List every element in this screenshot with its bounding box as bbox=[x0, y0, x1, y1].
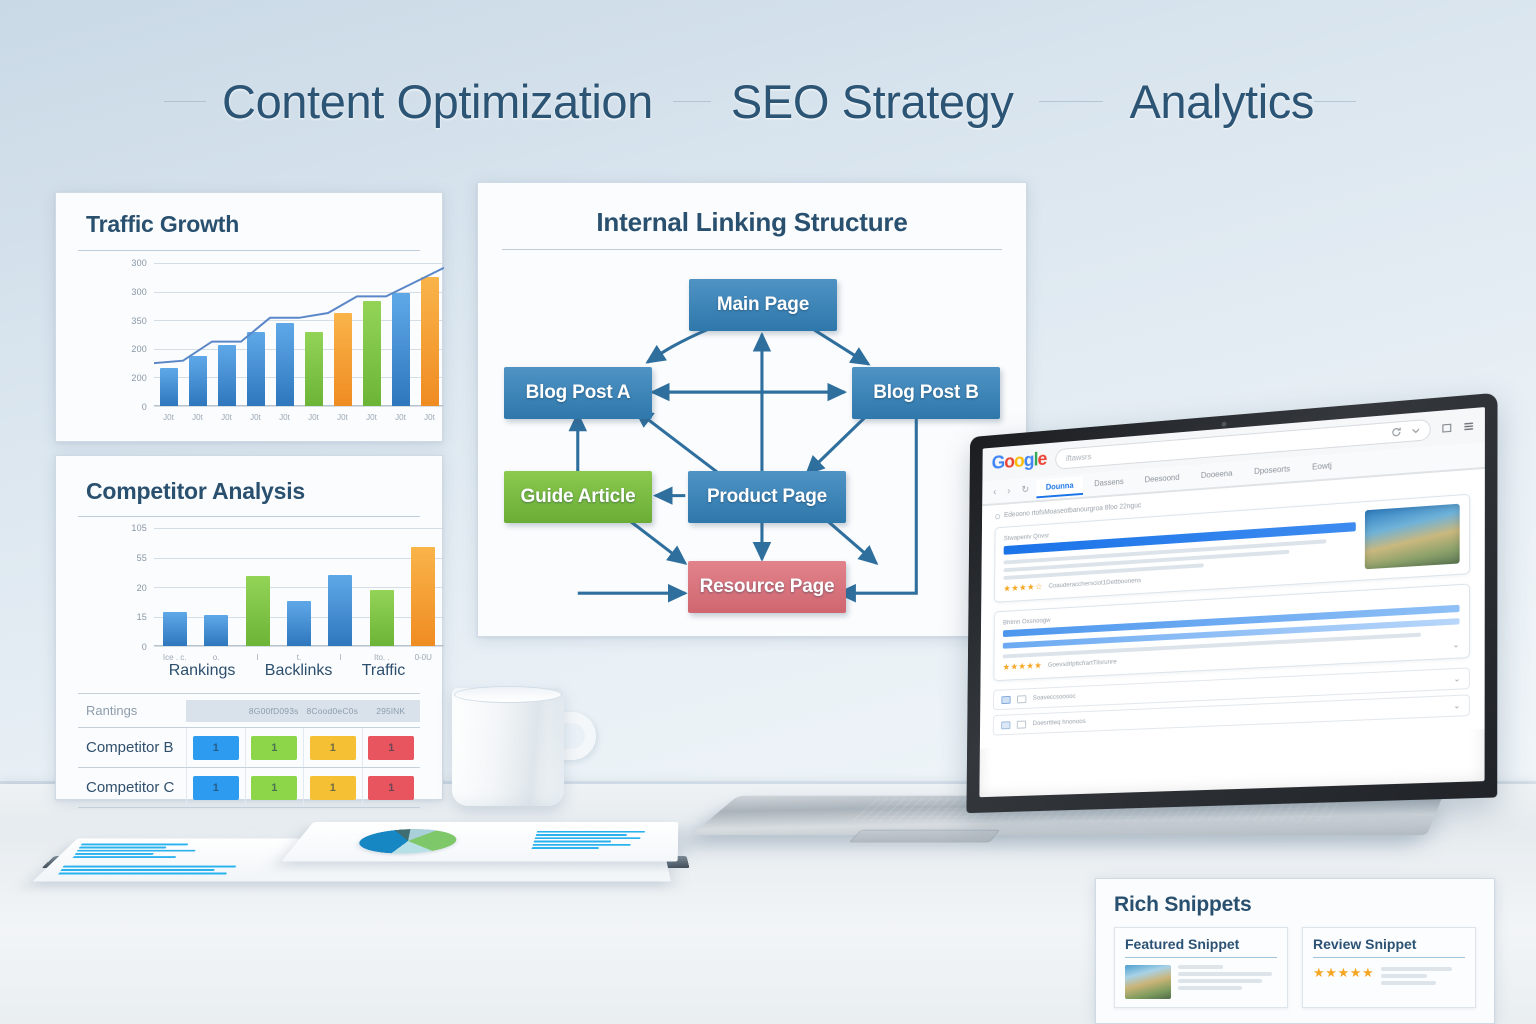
table-header-cell bbox=[186, 700, 245, 722]
divider bbox=[1313, 957, 1465, 958]
table-header-label: Rantings bbox=[78, 703, 186, 718]
chevron-down-icon[interactable] bbox=[1410, 424, 1421, 436]
x-axis-tick-label: J0t bbox=[221, 413, 232, 422]
node-label: Blog Post A bbox=[526, 382, 631, 404]
y-axis-tick-label: 55 bbox=[137, 553, 147, 563]
y-axis-tick-label: 105 bbox=[131, 523, 147, 533]
page-header: Content Optimization SEO Strategy Analyt… bbox=[0, 74, 1536, 150]
rating-caption: GoevsdrlpttcfrartTilsrunre bbox=[1048, 658, 1117, 668]
x-axis-tick-label: J0t bbox=[308, 413, 319, 422]
status-badge: 1 bbox=[193, 736, 239, 760]
snippet-thumbnail bbox=[1125, 965, 1171, 999]
chart-bar: J0t bbox=[421, 277, 439, 406]
browser-tab-0[interactable]: Dounna bbox=[1036, 476, 1083, 498]
star-rating: ★★★★★ bbox=[1313, 965, 1374, 981]
competitor-analysis-chart: 1055520150 Ice . c.o.lt.lIto. .0-0U bbox=[154, 528, 444, 646]
x-axis-tick-label: J0t bbox=[424, 413, 435, 422]
divider bbox=[78, 516, 420, 517]
chart-bar: J0t bbox=[247, 332, 265, 406]
chart-bar: J0t bbox=[305, 332, 323, 406]
diagram-node-blog-post-b[interactable]: Blog Post B bbox=[852, 367, 1000, 419]
review-snippet-card[interactable]: Review Snippet ★★★★★ bbox=[1302, 927, 1476, 1008]
star-rating: ★★★★★ bbox=[1003, 661, 1043, 672]
chart-bar: t. bbox=[287, 601, 311, 646]
table-header-chip bbox=[186, 700, 245, 722]
header-title-analytics: Analytics bbox=[1129, 74, 1313, 129]
status-badge: 1 bbox=[251, 776, 297, 800]
competitor-analysis-title: Competitor Analysis bbox=[86, 478, 305, 505]
chevron-down-icon[interactable]: ⌄ bbox=[1453, 674, 1460, 684]
browser-tab-5[interactable]: Eowtj bbox=[1302, 456, 1342, 478]
table-header-cell: 8G00fD093s bbox=[245, 700, 304, 722]
y-axis-tick-label: 15 bbox=[137, 612, 147, 622]
y-axis-tick-label: 0 bbox=[142, 642, 147, 652]
info-icon bbox=[995, 513, 1001, 519]
table-row-label: Competitor B bbox=[78, 739, 186, 756]
chevron-down-icon[interactable]: ⌄ bbox=[1453, 640, 1460, 650]
y-axis-tick-label: 300 bbox=[131, 287, 147, 297]
table-cell: 1 bbox=[186, 728, 245, 767]
traffic-growth-chart: 3003003502002000 J0tJ0tJ0tJ0tJ0tJ0tJ0tJ0… bbox=[154, 263, 444, 406]
key-icon bbox=[1001, 721, 1010, 729]
laptop: Google iftawsrs ‹ › ↻ DounnaD bbox=[715, 415, 1505, 865]
table-header-row: Rantings 8G00fD093s 8Cood0eC0s 295lNK bbox=[78, 694, 420, 727]
chart-bar: J0t bbox=[363, 301, 381, 406]
status-badge: 1 bbox=[251, 736, 297, 760]
review-snippet-body: ★★★★★ bbox=[1313, 965, 1465, 988]
pie-chart bbox=[351, 829, 461, 853]
omnibox-actions bbox=[1391, 424, 1422, 438]
table-header-chip: 8G00fD093s bbox=[245, 700, 304, 722]
laptop-screen: Google iftawsrs ‹ › ↻ DounnaD bbox=[979, 407, 1485, 797]
table-header-chip: 8Cood0eC0s bbox=[303, 700, 362, 722]
node-label: Main Page bbox=[717, 294, 809, 316]
featured-snippet-title: Featured Snippet bbox=[1125, 936, 1277, 952]
featured-snippet-card[interactable]: Featured Snippet bbox=[1114, 927, 1288, 1008]
status-badge: 1 bbox=[368, 736, 414, 760]
traffic-growth-title: Traffic Growth bbox=[86, 211, 239, 238]
chart-bar: l bbox=[246, 576, 270, 646]
chart-bars: Ice . c.o.lt.lIto. .0-0U bbox=[154, 528, 444, 646]
chart-bar: l bbox=[328, 575, 352, 646]
table-cell: 1 bbox=[245, 728, 304, 767]
table-row[interactable]: Competitor B1111 bbox=[78, 728, 420, 767]
reload-icon[interactable] bbox=[1391, 426, 1402, 438]
browser-content: Edeoono rtofsMoaseotbanourgroa 8foo 22ng… bbox=[980, 469, 1485, 749]
accordion-label: Doesrttteq hnonoos bbox=[1033, 718, 1086, 727]
table-row-label: Competitor C bbox=[78, 779, 186, 796]
paper-report-front bbox=[281, 822, 678, 862]
featured-snippet-body bbox=[1125, 965, 1277, 999]
divider bbox=[78, 250, 420, 251]
y-axis-tick-label: 20 bbox=[137, 583, 147, 593]
chart-bar: J0t bbox=[276, 323, 294, 406]
desk-papers bbox=[48, 805, 718, 915]
google-logo: Google bbox=[992, 449, 1047, 475]
reload-button[interactable]: ↻ bbox=[1018, 484, 1033, 496]
table-cell: 1 bbox=[362, 768, 421, 807]
table-cell: 1 bbox=[245, 768, 304, 807]
star-rating: ★★★★☆ bbox=[1003, 582, 1043, 593]
table-header-cell: 8Cood0eC0s bbox=[303, 700, 362, 722]
chart-bar: o. bbox=[204, 615, 228, 646]
y-axis-tick-label: 0 bbox=[142, 402, 147, 412]
y-axis-tick-label: 350 bbox=[131, 316, 147, 326]
table-cell: 1 bbox=[303, 728, 362, 767]
node-label: Blog Post B bbox=[873, 382, 978, 404]
chart-bar: J0t bbox=[334, 313, 352, 406]
browser-tab-4[interactable]: Dposeorts bbox=[1244, 459, 1300, 482]
node-label: Guide Article bbox=[521, 486, 636, 508]
webcam-icon bbox=[1222, 421, 1227, 426]
header-divider bbox=[673, 101, 711, 102]
y-axis-tick-label: 300 bbox=[131, 258, 147, 268]
review-snippet-title: Review Snippet bbox=[1313, 936, 1465, 952]
x-axis-tick-label: J0t bbox=[192, 413, 203, 422]
table-cell: 1 bbox=[186, 768, 245, 807]
header-title-seo-strategy: SEO Strategy bbox=[731, 74, 1014, 129]
chart-gridline: 0 bbox=[154, 646, 444, 647]
snippet-text-lines bbox=[1178, 965, 1277, 993]
mug-body bbox=[452, 688, 564, 806]
chart-bar: J0t bbox=[392, 293, 410, 406]
competitor-table: Rantings 8G00fD093s 8Cood0eC0s 295lNK Co… bbox=[78, 693, 420, 808]
back-button[interactable]: ‹ bbox=[990, 486, 1000, 497]
header-divider bbox=[1314, 101, 1356, 102]
table-header-chip: 295lNK bbox=[362, 700, 421, 722]
table-body: Competitor B1111Competitor C1111 bbox=[78, 728, 420, 807]
chart-bar: J0t bbox=[218, 345, 236, 406]
chart-group-label: Rankings bbox=[169, 662, 236, 680]
laptop-trackpad[interactable] bbox=[849, 830, 1000, 843]
forward-button[interactable]: › bbox=[1004, 485, 1015, 496]
paper-bar-chart bbox=[531, 831, 644, 849]
window-icon[interactable] bbox=[1441, 422, 1452, 434]
paper-bar-chart bbox=[58, 866, 236, 875]
paper-chart-overlay bbox=[49, 841, 295, 879]
search-stats-text: Edeoono rtofsMoaseotbanourgroa 8foo 22ng… bbox=[1004, 502, 1141, 519]
paper-bar-chart bbox=[73, 844, 198, 859]
table-cell: 1 bbox=[303, 768, 362, 807]
x-axis-tick-label: J0t bbox=[279, 413, 290, 422]
x-axis-tick-label: J0t bbox=[366, 413, 377, 422]
chart-group-label: Traffic bbox=[362, 662, 406, 680]
image-icon bbox=[1017, 695, 1026, 703]
result-thumbnail[interactable] bbox=[1365, 504, 1460, 570]
diagram-node-blog-post-a[interactable]: Blog Post A bbox=[504, 367, 652, 419]
accordion-label: Soaveccsooooc bbox=[1033, 693, 1076, 702]
x-axis-tick-label: J0t bbox=[337, 413, 348, 422]
traffic-growth-card: Traffic Growth 3003003502002000 J0tJ0tJ0… bbox=[55, 192, 443, 442]
x-axis-tick-label: J0t bbox=[163, 413, 174, 422]
browser-tab-3[interactable]: Dooeena bbox=[1191, 463, 1242, 486]
rich-snippets-row: Featured Snippet Review Snippet ★★★★★ bbox=[1114, 927, 1476, 1008]
status-badge: 1 bbox=[368, 776, 414, 800]
snippet-text-lines bbox=[1381, 965, 1465, 988]
chart-bar: J0t bbox=[189, 356, 207, 406]
status-badge: 1 bbox=[193, 776, 239, 800]
diagram-node-guide-article[interactable]: Guide Article bbox=[504, 471, 652, 523]
table-cell: 1 bbox=[362, 728, 421, 767]
chart-bar: Ice . c. bbox=[163, 612, 187, 646]
y-axis-tick-label: 200 bbox=[131, 344, 147, 354]
y-axis-tick-label: 200 bbox=[131, 373, 147, 383]
x-axis-tick-label: J0t bbox=[250, 413, 261, 422]
browser-tab-1[interactable]: Dassens bbox=[1085, 472, 1133, 494]
rating-caption: Coauderacchersciot1Dettboonens bbox=[1048, 577, 1141, 590]
header-divider bbox=[1039, 101, 1103, 102]
coffee-mug bbox=[452, 688, 597, 810]
rich-snippets-card: Rich Snippets Featured Snippet Review Sn… bbox=[1095, 878, 1495, 1024]
chart-bar: J0t bbox=[160, 368, 178, 406]
mug-rim bbox=[454, 686, 562, 703]
chart-group-labels: RankingsBacklinksTraffic bbox=[154, 661, 420, 681]
table-row[interactable]: Competitor C1111 bbox=[78, 768, 420, 807]
document-icon bbox=[1001, 695, 1010, 703]
chevron-down-icon[interactable]: ⌄ bbox=[1453, 701, 1460, 711]
chart-group-label: Backlinks bbox=[265, 662, 333, 680]
hamburger-menu-icon[interactable] bbox=[1463, 420, 1475, 432]
competitor-analysis-card: Competitor Analysis 1055520150 Ice . c.o… bbox=[55, 455, 443, 800]
image-icon bbox=[1017, 720, 1026, 728]
chart-gridline: 0 bbox=[154, 406, 444, 407]
chart-bar: Ito. . bbox=[370, 590, 394, 646]
rich-snippets-title: Rich Snippets bbox=[1114, 893, 1476, 917]
header-title-content-optimization: Content Optimization bbox=[222, 74, 653, 129]
divider bbox=[1125, 957, 1277, 958]
browser-tab-2[interactable]: Deesoond bbox=[1135, 468, 1189, 491]
status-badge: 1 bbox=[310, 776, 356, 800]
laptop-lid: Google iftawsrs ‹ › ↻ DounnaD bbox=[966, 393, 1497, 814]
result-body: Stwapenlv Qnvsr ★★★★☆ Coauderacchersciot… bbox=[1003, 511, 1356, 594]
chart-bars: J0tJ0tJ0tJ0tJ0tJ0tJ0tJ0tJ0tJ0t bbox=[154, 263, 444, 406]
table-header-cell: 295lNK bbox=[362, 700, 421, 722]
x-axis-tick-label: J0t bbox=[395, 413, 406, 422]
diagram-node-main-page[interactable]: Main Page bbox=[689, 279, 837, 331]
status-badge: 1 bbox=[310, 736, 356, 760]
chart-bar: 0-0U bbox=[411, 547, 435, 646]
omnibox-value: iftawsrs bbox=[1066, 452, 1091, 463]
header-divider bbox=[164, 101, 206, 102]
